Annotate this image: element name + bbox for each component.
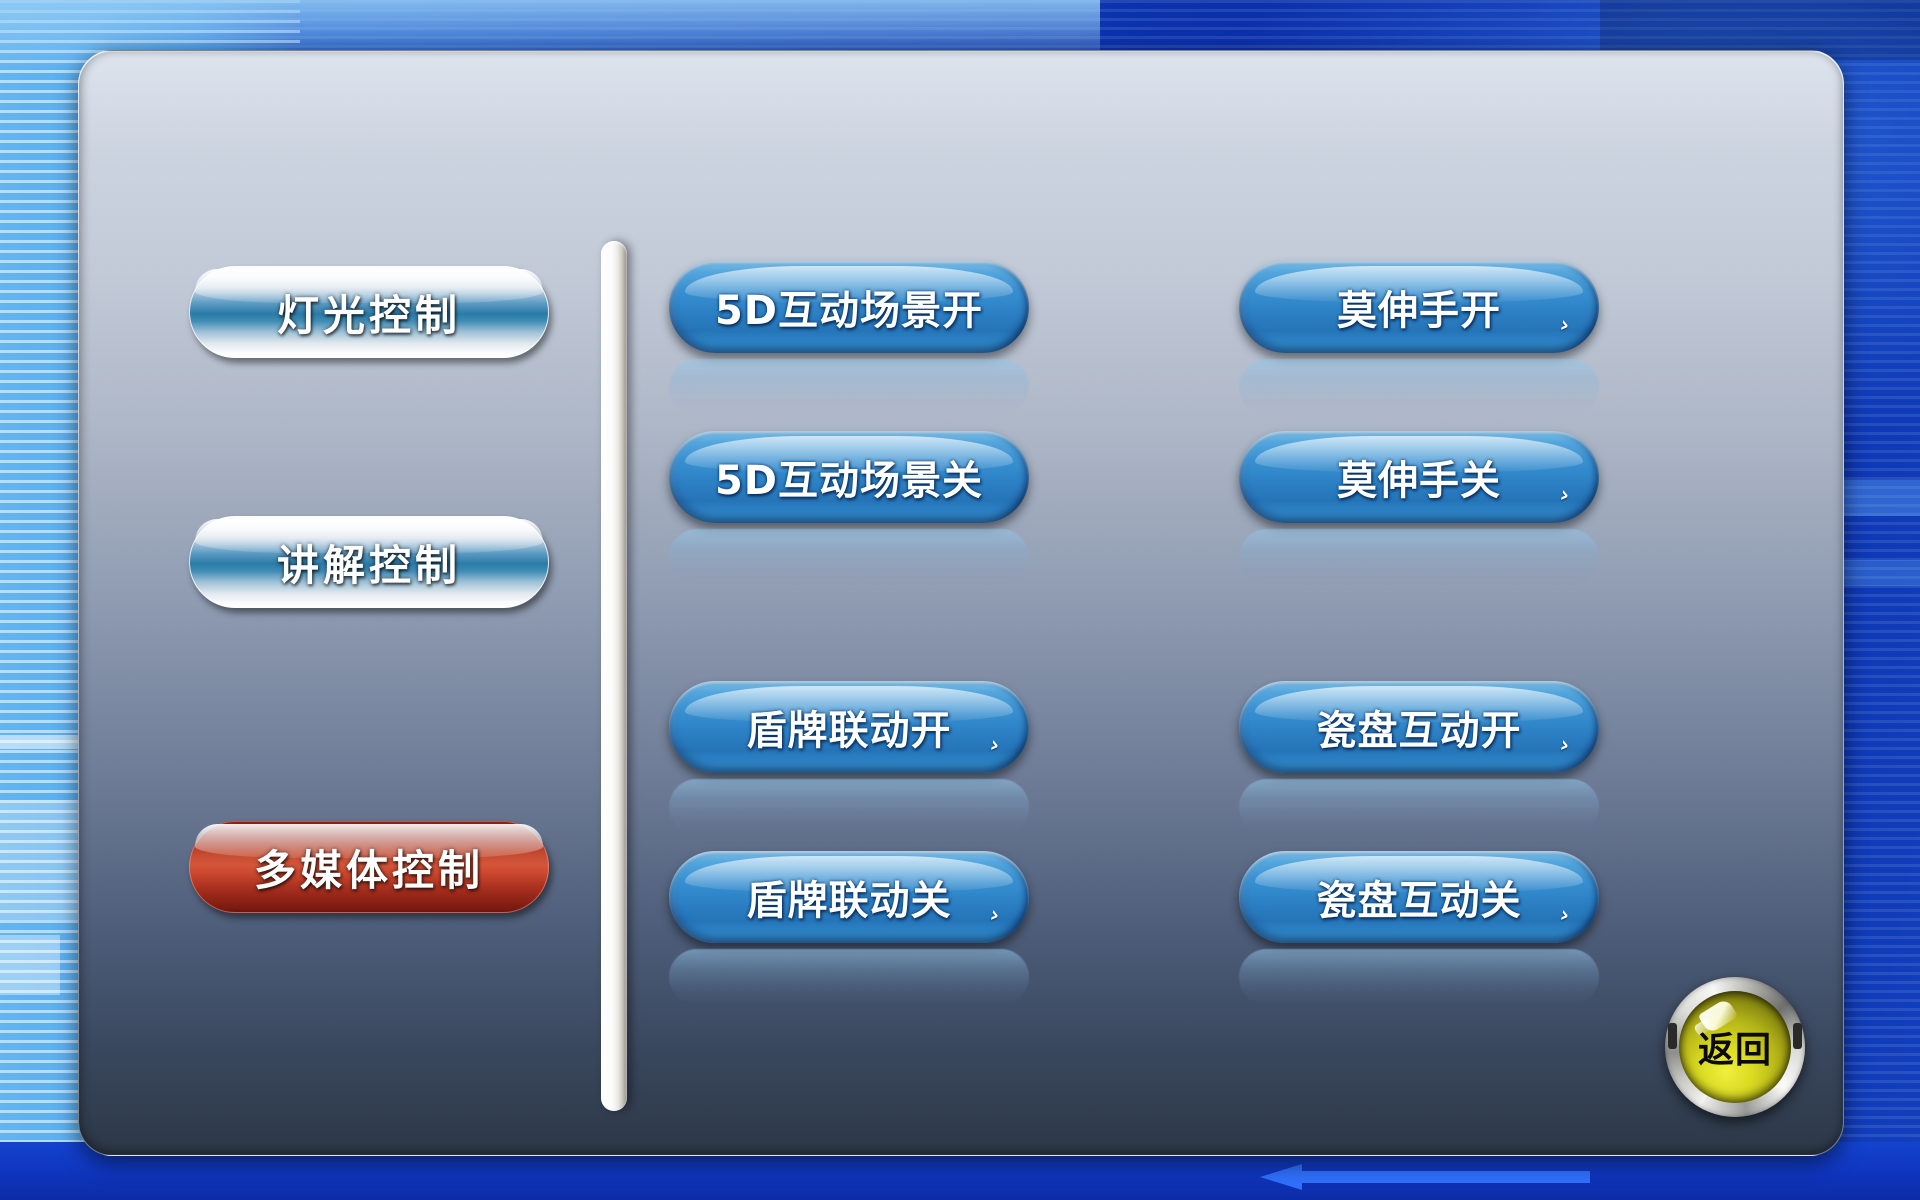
button-label: 莫伸手开 xyxy=(1337,278,1501,336)
background-block xyxy=(0,800,78,920)
button-cell: 瓷盘互动关 › xyxy=(1239,851,1599,947)
button-cell: 莫伸手开 › xyxy=(1239,261,1599,357)
button-label: 盾牌联动关 xyxy=(747,868,952,926)
button-5d-scene-on[interactable]: 5D互动场景开 xyxy=(669,261,1029,353)
background-block xyxy=(0,935,60,995)
back-button-label: 返回 xyxy=(1698,1021,1772,1073)
button-cell: 莫伸手关 › xyxy=(1239,431,1599,527)
button-cell: 5D互动场景开 xyxy=(669,261,1029,357)
back-button-face: 返回 xyxy=(1679,991,1791,1103)
button-5d-scene-off[interactable]: 5D互动场景关 xyxy=(669,431,1029,523)
button-dont-reach-on[interactable]: 莫伸手开 › xyxy=(1239,261,1599,353)
button-reflection xyxy=(1239,529,1599,585)
button-dont-reach-off[interactable]: 莫伸手关 › xyxy=(1239,431,1599,523)
button-label: 瓷盘互动开 xyxy=(1317,698,1522,756)
button-reflection xyxy=(669,779,1029,835)
chevron-right-icon: › xyxy=(987,734,1001,758)
button-cell: 瓷盘互动开 › xyxy=(1239,681,1599,777)
chevron-right-icon: › xyxy=(987,904,1001,928)
chevron-right-icon: › xyxy=(1557,484,1571,508)
sidebar-item-label: 灯光控制 xyxy=(277,282,461,343)
sidebar-item-label: 多媒体控制 xyxy=(254,837,484,898)
chevron-right-icon: › xyxy=(1557,904,1571,928)
main-panel: 灯光控制 讲解控制 多媒体控制 5D互动场景开 xyxy=(78,50,1844,1156)
button-label: 瓷盘互动关 xyxy=(1317,868,1522,926)
button-cell: 盾牌联动开 › xyxy=(669,681,1029,777)
button-label: 5D互动场景关 xyxy=(715,448,983,506)
button-porcelain-plate-on[interactable]: 瓷盘互动开 › xyxy=(1239,681,1599,773)
button-reflection xyxy=(1239,359,1599,415)
button-reflection xyxy=(669,359,1029,415)
back-button[interactable]: 返回 xyxy=(1665,977,1805,1117)
button-reflection xyxy=(1239,949,1599,1005)
button-shield-link-on[interactable]: 盾牌联动开 › xyxy=(669,681,1029,773)
button-shield-link-off[interactable]: 盾牌联动关 › xyxy=(669,851,1029,943)
button-label: 莫伸手关 xyxy=(1337,448,1501,506)
chevron-right-icon: › xyxy=(1557,314,1571,338)
button-cell: 5D互动场景关 xyxy=(669,431,1029,527)
button-porcelain-plate-off[interactable]: 瓷盘互动关 › xyxy=(1239,851,1599,943)
button-reflection xyxy=(669,529,1029,585)
left-arrow-icon xyxy=(1260,1164,1590,1190)
back-button-notch xyxy=(1793,1023,1802,1049)
action-button-grid: 5D互动场景开 5D互动场景关 盾牌联动开 xyxy=(79,51,1843,1155)
sidebar-item-label: 讲解控制 xyxy=(277,532,461,593)
button-reflection xyxy=(1239,779,1599,835)
button-label: 5D互动场景开 xyxy=(715,278,983,336)
back-button-notch xyxy=(1668,1023,1677,1049)
button-cell: 盾牌联动关 › xyxy=(669,851,1029,947)
button-label: 盾牌联动开 xyxy=(747,698,952,756)
button-reflection xyxy=(669,949,1029,1005)
chevron-right-icon: › xyxy=(1557,734,1571,758)
